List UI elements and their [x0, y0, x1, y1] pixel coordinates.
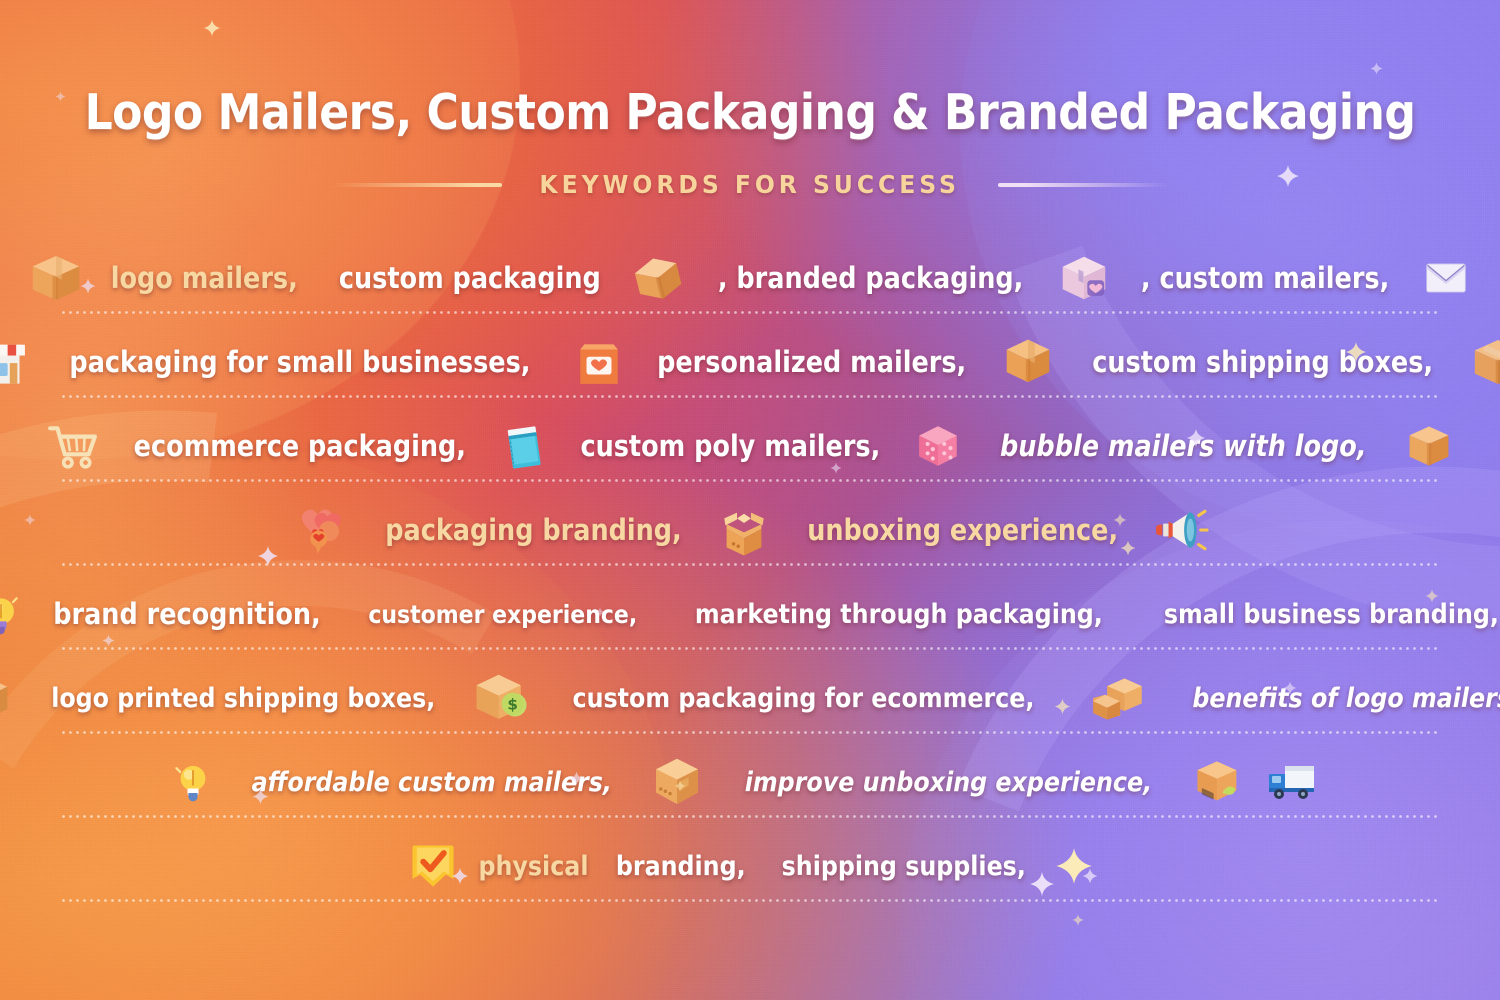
heart-carton-icon: [573, 332, 625, 392]
box-stack-icon: [1077, 671, 1159, 725]
labeled-box-icon: [0, 670, 14, 726]
delivery-truck-icon: [1256, 757, 1330, 807]
keyword-text: physical: [479, 853, 589, 880]
keyword-row: packaging for small businesses,personali…: [0, 320, 1500, 404]
keyword-text: branding,: [616, 853, 746, 880]
keyword-text: , branded packaging,: [718, 264, 1024, 293]
keyword-text: custom poly mailers,: [581, 432, 881, 461]
keyword-text: customer experience,: [368, 602, 637, 627]
sparkle-icon: [1370, 62, 1383, 75]
keyword-row: ecommerce packaging,custom poly mailers,…: [0, 404, 1500, 488]
idea-bulb-icon: [170, 754, 216, 810]
page-title: Logo Mailers, Custom Packaging & Branded…: [75, 84, 1425, 141]
keyword-row: physicalbranding,shipping supplies,: [0, 824, 1500, 908]
hearts-icon: [288, 502, 354, 558]
row-divider: [60, 815, 1440, 818]
pink-heart-box-icon: [1055, 250, 1113, 306]
taped-box-icon: [1467, 333, 1500, 391]
keyword-text: custom shipping boxes,: [1092, 348, 1433, 377]
keyword-text: packaging branding,: [385, 516, 682, 545]
keyword-text: unboxing experience,: [807, 516, 1118, 545]
shipping-box-icon: [998, 334, 1058, 390]
keyword-text: logo mailers,: [110, 264, 297, 293]
subtitle-rule-right: [998, 183, 1168, 187]
keyword-row: logo mailers,custom packaging, branded p…: [0, 236, 1500, 320]
keyword-text: custom packaging: [339, 264, 601, 293]
keyword-row: packaging branding,unboxing experience,: [0, 488, 1500, 572]
row-divider: [60, 479, 1440, 482]
svg-text:$: $: [507, 696, 517, 714]
sparkle-icon: [203, 19, 221, 37]
row-divider: [60, 647, 1440, 650]
keyword-text: bubble mailers with logo,: [1000, 432, 1367, 461]
keyword-row: logo printed shipping boxes,$custom pack…: [0, 656, 1500, 740]
keyword-rows: logo mailers,custom packaging, branded p…: [0, 236, 1500, 908]
row-divider: [60, 395, 1440, 398]
keyword-row: affordable custom mailers,improve unboxi…: [0, 740, 1500, 824]
dollar-box-icon: $: [472, 669, 530, 727]
row-divider: [60, 899, 1440, 902]
sealed-box-icon: [648, 753, 706, 811]
row-divider: [60, 731, 1440, 734]
sparkle-icon: [1072, 914, 1084, 926]
page-subtitle: KEYWORDS FOR SUCCESS: [540, 170, 961, 199]
shopping-cart-icon: [44, 420, 100, 472]
keyword-text: packaging for small businesses,: [69, 348, 530, 377]
keyword-text: logo printed shipping boxes,: [51, 685, 435, 712]
envelope-icon: [1417, 256, 1475, 300]
row-divider: [60, 563, 1440, 566]
poly-mailer-icon: [499, 417, 549, 475]
subtitle-band: KEYWORDS FOR SUCCESS: [0, 170, 1500, 199]
keyword-text: shipping supplies,: [782, 853, 1026, 880]
keyword-text: , custom mailers,: [1141, 264, 1389, 293]
keyword-text: benefits of logo mailers,: [1192, 685, 1500, 712]
keyword-row: brand recognition,customer experience,ma…: [0, 572, 1500, 656]
check-badge-icon: [406, 837, 460, 895]
sparkle-icon: [55, 91, 66, 102]
keyword-text: personalized mailers,: [657, 348, 966, 377]
megaphone-icon: [1150, 504, 1212, 556]
small-box-icon: [1402, 419, 1456, 473]
bubble-mailer-icon: [912, 419, 964, 473]
sparkle-icon: [1054, 846, 1094, 886]
tilted-box-icon: [630, 250, 686, 306]
lightbulb-icon: [0, 586, 24, 642]
keyword-text: marketing through packaging,: [694, 601, 1102, 628]
keyword-text: custom packaging for ecommerce,: [573, 685, 1035, 712]
keyword-text: improve unboxing experience,: [745, 769, 1152, 796]
keyword-text: brand recognition,: [53, 600, 320, 629]
subtitle-rule-left: [332, 183, 502, 187]
cardboard-box-icon: [25, 249, 87, 307]
storefront-icon: [0, 335, 27, 389]
open-box-icon: [713, 501, 775, 559]
keyword-text: ecommerce packaging,: [133, 432, 465, 461]
keyword-text: small business branding,: [1164, 601, 1499, 628]
eco-box-icon: [1191, 754, 1245, 810]
keyword-text: affordable custom mailers,: [252, 769, 612, 796]
row-divider: [60, 311, 1440, 314]
